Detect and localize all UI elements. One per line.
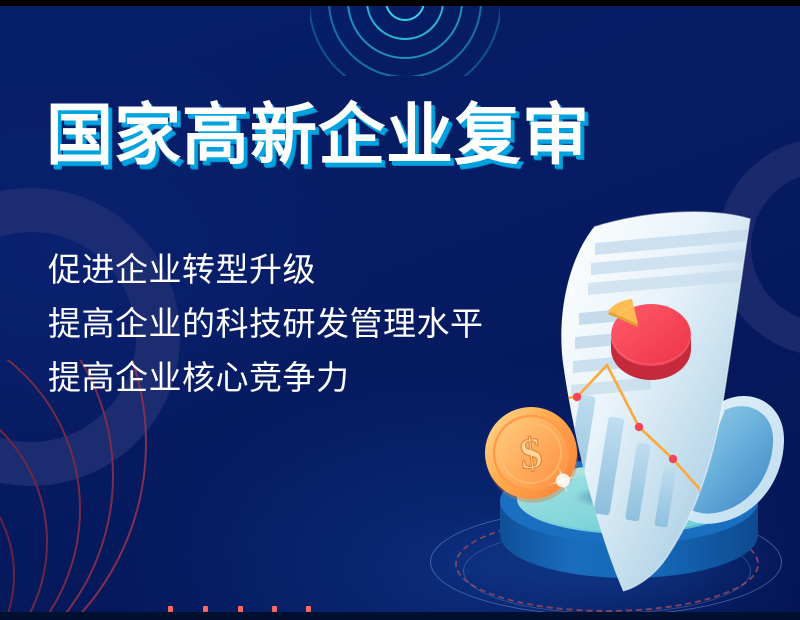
ripple-arcs-group xyxy=(310,0,500,76)
subtitle-line-2: 提高企业的科技研发管理水平 xyxy=(48,297,484,351)
ripple-arc-5 xyxy=(310,0,500,76)
bottom-crop-strip xyxy=(0,612,800,620)
subtitle-list: 促进企业转型升级 提高企业的科技研发管理水平 提高企业核心竞争力 xyxy=(48,243,484,405)
subtitle-line-3: 提高企业核心竞争力 xyxy=(48,351,484,405)
subtitle-line-1: 促进企业转型升级 xyxy=(48,243,484,297)
illustration-report-on-podium: $ xyxy=(455,205,800,620)
page-title: 国家高新企业复审 xyxy=(46,81,590,178)
top-crop-strip xyxy=(0,0,800,6)
poster-canvas: 国家高新企业复审 促进企业转型升级 提高企业的科技研发管理水平 提高企业核心竞争… xyxy=(0,0,800,620)
